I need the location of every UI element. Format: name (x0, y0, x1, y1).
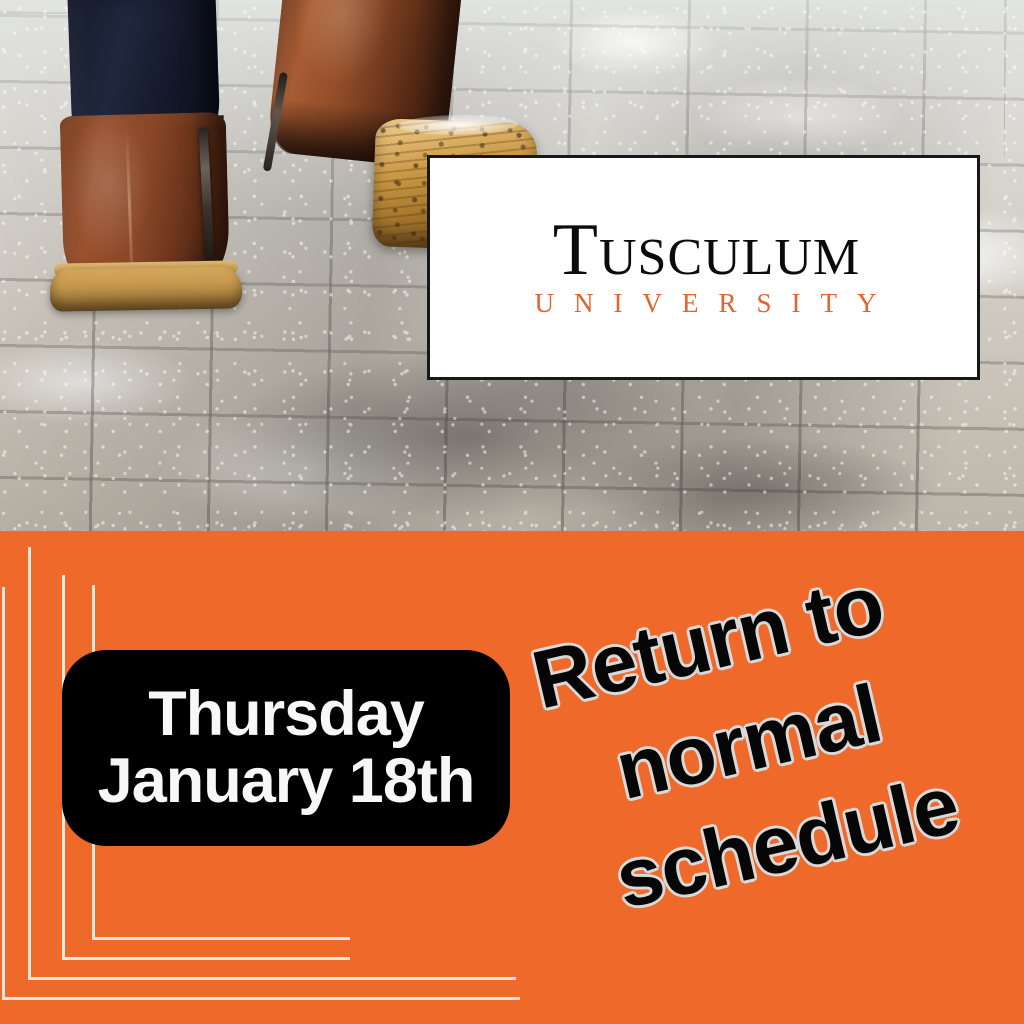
date-badge: Thursday January 18th (62, 650, 510, 846)
logo-subtitle: UNIVERSITY (535, 288, 897, 319)
logo-wordmark: Tusculum (553, 216, 860, 286)
left-boot (56, 0, 256, 300)
orange-message-panel: Thursday January 18th Return to normal s… (0, 531, 1024, 1024)
announcement-poster: Tusculum UNIVERSITY Thursday January 18t… (0, 0, 1024, 1024)
boot-sole-left (50, 266, 243, 311)
tusculum-university-logo: Tusculum UNIVERSITY (427, 155, 980, 380)
date-badge-date: January 18th (98, 748, 475, 815)
headline-block: Return to normal schedule (467, 538, 997, 955)
winter-boots-photo: Tusculum UNIVERSITY (0, 0, 1024, 531)
date-badge-weekday: Thursday (148, 681, 424, 748)
